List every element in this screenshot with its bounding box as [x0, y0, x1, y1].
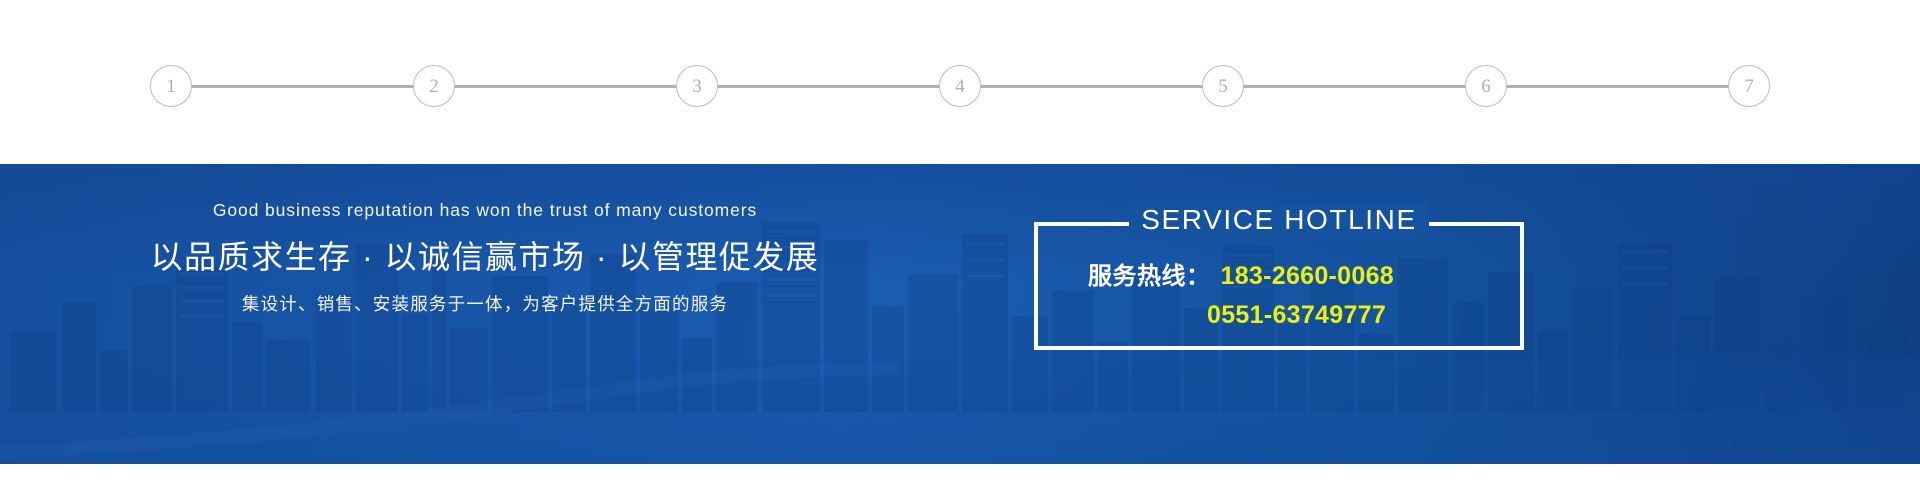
stepper-section: 1 2 3 4 5 6 7 — [0, 0, 1920, 164]
stepper-connector-4-5 — [980, 85, 1203, 88]
hotline-row-primary: 服务热线： 183-2660-0068 — [1034, 256, 1524, 291]
road-background-image — [0, 324, 1920, 464]
stepper-connector-3-4 — [717, 85, 940, 88]
stepper-connector-1-2 — [191, 85, 414, 88]
stepper-node-1[interactable]: 1 — [150, 65, 192, 107]
stepper-node-7[interactable]: 7 — [1728, 65, 1770, 107]
service-hotline-block: SERVICE HOTLINE 服务热线： 183-2660-0068 0551… — [1034, 222, 1524, 350]
hotline-row-secondary: 0551-63749777 — [1034, 301, 1524, 330]
stepper-node-6[interactable]: 6 — [1465, 65, 1507, 107]
stepper-track: 1 2 3 4 5 6 7 — [150, 64, 1770, 108]
bottom-white-strip — [0, 464, 1920, 500]
slogan-block: Good business reputation has won the tru… — [0, 200, 970, 316]
stepper-node-4[interactable]: 4 — [939, 65, 981, 107]
slogan-subline: 集设计、销售、安装服务于一体，为客户提供全方面的服务 — [0, 291, 970, 316]
stepper-connector-2-3 — [454, 85, 677, 88]
hotline-rows: 服务热线： 183-2660-0068 0551-63749777 — [1034, 256, 1524, 330]
hotline-label: 服务热线： — [1088, 256, 1211, 291]
hotline-number-primary[interactable]: 183-2660-0068 — [1221, 262, 1395, 291]
stepper-node-5[interactable]: 5 — [1202, 65, 1244, 107]
stepper-connector-5-6 — [1243, 85, 1466, 88]
stepper-node-2[interactable]: 2 — [413, 65, 455, 107]
hotline-number-secondary[interactable]: 0551-63749777 — [1207, 301, 1386, 330]
stepper-connector-6-7 — [1506, 85, 1729, 88]
promo-banner: Good business reputation has won the tru… — [0, 164, 1920, 464]
slogan-english-line: Good business reputation has won the tru… — [0, 200, 970, 221]
stepper-node-3[interactable]: 3 — [676, 65, 718, 107]
slogan-headline: 以品质求生存 · 以诚信赢市场 · 以管理促发展 — [0, 232, 970, 278]
